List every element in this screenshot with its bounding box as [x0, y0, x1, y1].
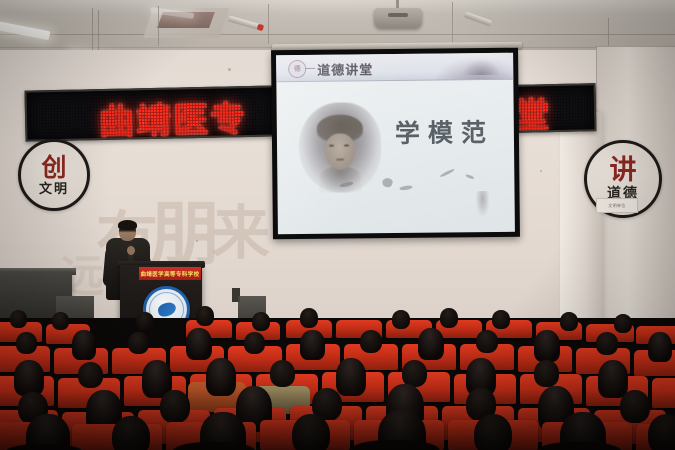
ceiling-wire: [158, 6, 159, 46]
audience-head: [10, 310, 27, 328]
audience-head: [596, 332, 618, 355]
audience-head: [14, 360, 44, 396]
wall-emblem-left-main: 创: [41, 155, 66, 180]
audience-head: [160, 390, 190, 423]
audience-area: [0, 318, 675, 450]
audience-head: [300, 308, 318, 328]
audience-head: [300, 330, 325, 360]
audience-head: [196, 306, 214, 326]
wall-pillar: [560, 112, 602, 340]
audience-head: [474, 414, 512, 450]
presentation-slide: 德 道德讲堂 学模范: [276, 53, 515, 234]
slide-ink-stroke: [465, 174, 474, 180]
wall-emblem-left: 创 文明: [18, 139, 90, 211]
wall-placard: 文明单位: [596, 198, 638, 213]
ceiling-wire: [268, 4, 269, 44]
audience-head: [418, 328, 444, 360]
audience-head: [534, 330, 560, 362]
podium-banner: 曲靖医学高等专科学校: [139, 267, 201, 280]
ceiling-wire: [98, 10, 99, 52]
slide-header-title: 道德讲堂: [317, 59, 373, 79]
audience-head: [128, 332, 149, 354]
wall-emblem-right-main: 讲: [610, 157, 637, 184]
led-banner-right: 堂: [516, 83, 597, 133]
ceiling-wire: [452, 2, 453, 42]
slide-logo-icon: 德: [288, 60, 306, 78]
audience-head: [336, 358, 366, 396]
speaker-hair: [118, 220, 137, 230]
slide-mountain-art: [461, 59, 501, 75]
projection-screen: 德 道德讲堂 学模范: [271, 48, 520, 240]
audience-head: [186, 328, 212, 360]
audience-head: [206, 358, 236, 396]
podium-banner-text: 曲靖医学高等专科学校: [140, 270, 199, 278]
lecture-hall-photo: 有 朋 来 远 曲靖医专 堂 创 文明 讲 道德 文明单位: [0, 0, 675, 450]
audience-head: [440, 308, 458, 328]
audience-head: [648, 332, 672, 362]
audience-head: [598, 360, 628, 398]
audience-head: [476, 330, 498, 353]
audience-head: [72, 330, 96, 360]
ceiling-wire: [92, 8, 93, 52]
audience-head: [52, 312, 69, 330]
led-dot-matrix: [518, 85, 595, 131]
wall-ceiling-joint: [596, 46, 675, 47]
speaker-hand: [127, 246, 135, 255]
slide-logo-dash: [305, 68, 315, 69]
slide-ink-stroke: [381, 177, 393, 189]
audience-head: [292, 414, 330, 450]
audience-head: [492, 310, 510, 329]
slide-ink-stroke: [439, 168, 455, 178]
audience-head: [648, 414, 675, 450]
audience-head: [244, 332, 265, 354]
seat: [652, 378, 675, 408]
audience-head: [16, 332, 37, 354]
ceiling-band: [0, 0, 675, 14]
slide-portrait: [299, 102, 382, 193]
audience-head: [360, 330, 382, 353]
audience-head: [252, 312, 270, 331]
audience-head: [560, 312, 578, 331]
projector-icon: [374, 8, 422, 28]
led-dot-matrix: [27, 87, 276, 139]
ceiling-wire: [608, 18, 609, 48]
ceiling-seam: [0, 34, 675, 35]
audience-head: [534, 360, 559, 387]
audience-head: [112, 416, 150, 450]
slide-main-title: 学模范: [395, 113, 494, 150]
audience-head: [620, 390, 650, 423]
audience-head: [392, 310, 410, 329]
wall-calligraphy-ghost: 来: [212, 186, 270, 270]
audience-head: [402, 360, 427, 387]
audience-head: [78, 362, 103, 388]
audience-head: [270, 360, 295, 387]
slide-figure-art: [476, 191, 490, 217]
led-banner-left: 曲靖医专: [24, 85, 277, 141]
audience-head: [136, 312, 154, 331]
slide-ink-stroke: [399, 185, 412, 191]
wall-emblem-left-sub: 文明: [39, 183, 69, 196]
audience-head: [614, 314, 632, 333]
